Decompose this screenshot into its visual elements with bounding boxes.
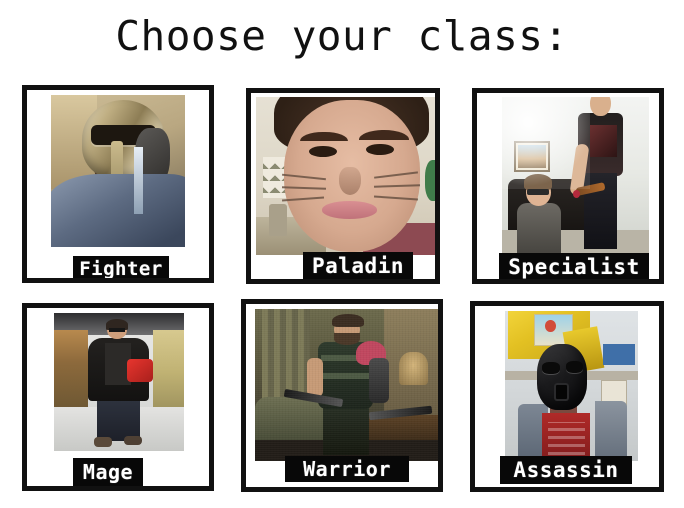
class-card-assassin[interactable]: Assassin	[470, 301, 664, 492]
class-label-warrior: Warrior	[285, 456, 409, 482]
fighter-photo	[51, 95, 185, 247]
class-card-mage[interactable]: Mage	[22, 303, 214, 491]
class-card-paladin[interactable]: Paladin	[246, 88, 440, 284]
class-card-specialist[interactable]: Specialist	[472, 88, 664, 284]
assassin-photo	[505, 311, 638, 461]
class-card-fighter[interactable]: Fighter	[22, 85, 214, 283]
paladin-photo	[256, 97, 440, 255]
class-label-paladin: Paladin	[303, 252, 413, 280]
class-label-specialist: Specialist	[499, 253, 649, 281]
warrior-photo	[255, 309, 439, 461]
specialist-photo	[502, 97, 649, 255]
class-label-assassin: Assassin	[500, 456, 632, 484]
class-card-warrior[interactable]: Warrior	[241, 299, 443, 492]
class-label-fighter: Fighter	[73, 256, 169, 282]
mage-photo	[54, 313, 184, 451]
class-panel-grid: Fighter	[0, 0, 684, 508]
class-label-mage: Mage	[73, 458, 143, 486]
